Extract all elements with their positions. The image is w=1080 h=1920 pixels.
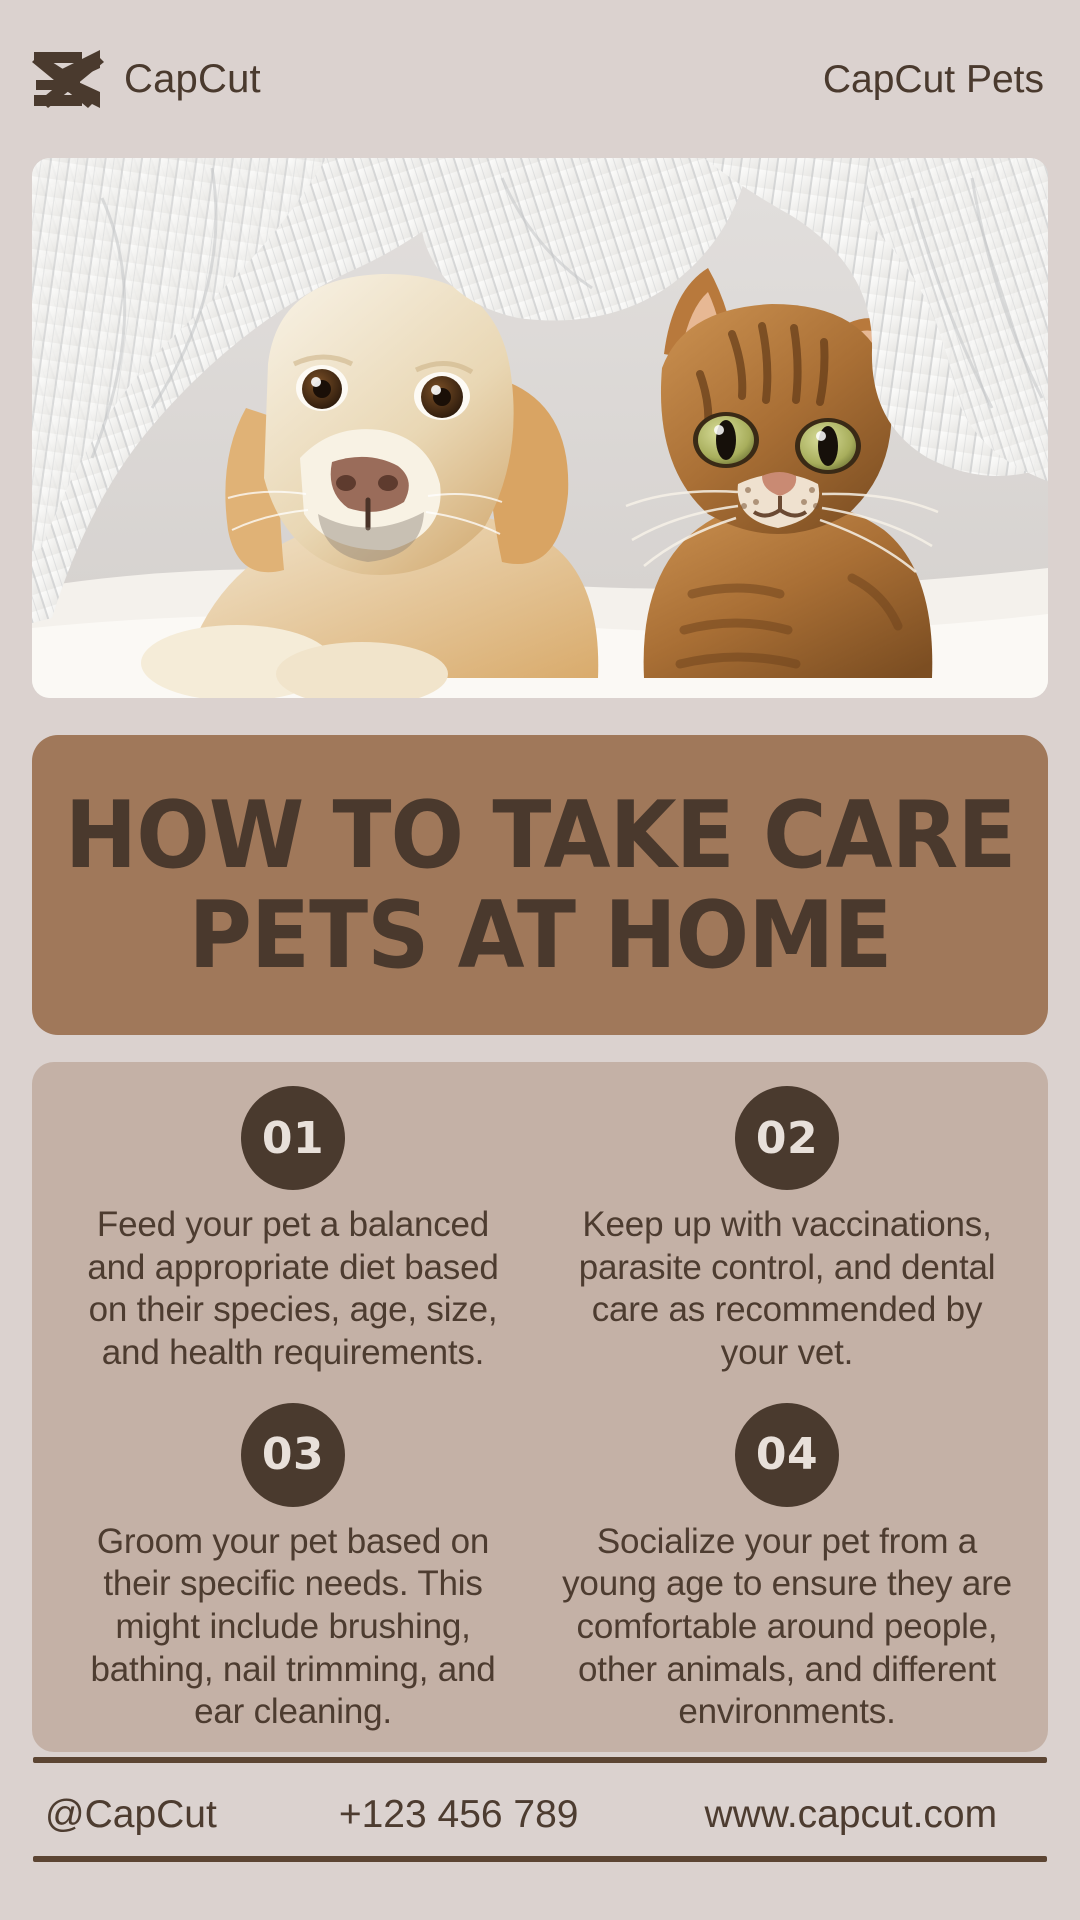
tip-item-03: 03 Groom your pet based on their specifi… xyxy=(46,1403,540,1734)
title-line-1: HOW TO TAKE CARE xyxy=(65,785,1016,885)
tip-text-02: Keep up with vaccinations, parasite cont… xyxy=(558,1204,1016,1375)
tip-badge-03: 03 xyxy=(241,1403,345,1507)
footer-phone-number[interactable]: +123 456 789 xyxy=(339,1795,579,1834)
tip-item-02: 02 Keep up with vaccinations, parasite c… xyxy=(540,1086,1034,1403)
brand-name-label: CapCut xyxy=(124,59,261,99)
tip-badge-04: 04 xyxy=(735,1403,839,1507)
header-bar: CapCut CapCut Pets xyxy=(0,0,1080,158)
footer-divider-bottom xyxy=(33,1856,1047,1862)
header-right-label: CapCut Pets xyxy=(823,60,1044,99)
capcut-bowtie-logo-icon xyxy=(30,48,106,110)
tips-card: 01 Feed your pet a balanced and appropri… xyxy=(32,1062,1048,1752)
tip-text-04: Socialize your pet from a young age to e… xyxy=(558,1521,1016,1734)
tip-item-04: 04 Socialize your pet from a young age t… xyxy=(540,1403,1034,1734)
hero-photo xyxy=(32,158,1048,698)
title-line-2: PETS AT HOME xyxy=(188,885,891,985)
tip-item-01: 01 Feed your pet a balanced and appropri… xyxy=(46,1086,540,1403)
tip-badge-01: 01 xyxy=(241,1086,345,1190)
footer-divider-top xyxy=(33,1757,1047,1763)
footer-social-handle[interactable]: @CapCut xyxy=(45,1795,217,1834)
title-banner: HOW TO TAKE CARE PETS AT HOME xyxy=(32,735,1048,1035)
tip-text-03: Groom your pet based on their specific n… xyxy=(64,1521,522,1734)
infographic-poster: CapCut CapCut Pets xyxy=(0,0,1080,1920)
footer-website-url[interactable]: www.capcut.com xyxy=(704,1795,997,1834)
tip-text-01: Feed your pet a balanced and appropriate… xyxy=(64,1204,522,1375)
brand-lockup[interactable]: CapCut xyxy=(30,48,261,110)
footer-bar: @CapCut +123 456 789 www.capcut.com xyxy=(33,1775,1047,1853)
tip-badge-02: 02 xyxy=(735,1086,839,1190)
